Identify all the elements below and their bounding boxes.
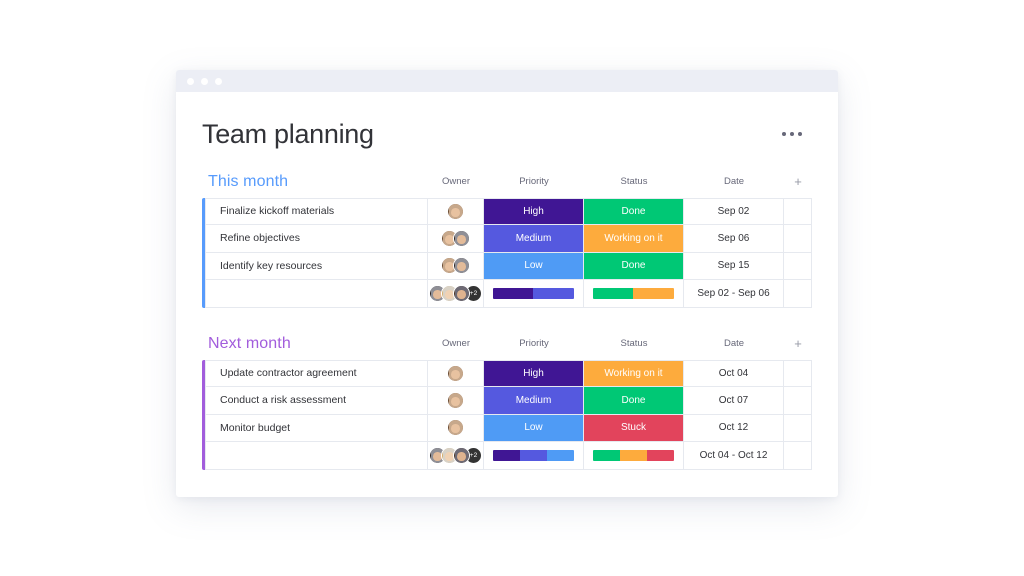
summary-status-cell: [584, 280, 684, 307]
table-row[interactable]: Monitor budgetLowStuckOct 12: [205, 415, 812, 443]
summary-add-cell: [784, 280, 812, 307]
summary-name-cell: [205, 280, 428, 307]
priority-cell[interactable]: High: [484, 361, 584, 387]
task-name[interactable]: Finalize kickoff materials: [205, 199, 428, 225]
column-header-priority[interactable]: Priority: [484, 338, 584, 349]
group-header-row: Next monthOwnerPriorityStatusDate+: [202, 332, 812, 356]
window-dot-close[interactable]: [187, 78, 194, 85]
column-header-status[interactable]: Status: [584, 176, 684, 187]
summary-status-cell: [584, 442, 684, 469]
row-add-cell[interactable]: [784, 225, 812, 252]
owner-cell[interactable]: [428, 225, 484, 252]
avatar[interactable]: [447, 365, 464, 382]
summary-priority-cell: [484, 280, 584, 307]
group-table: Finalize kickoff materialsHighDoneSep 02…: [202, 198, 812, 308]
column-header-date[interactable]: Date: [684, 176, 784, 187]
priority-cell[interactable]: Medium: [484, 387, 584, 414]
row-add-cell[interactable]: [784, 387, 812, 414]
table-row[interactable]: Finalize kickoff materialsHighDoneSep 02: [205, 198, 812, 226]
summary-date-cell: Sep 02 - Sep 06: [684, 280, 784, 307]
table-row[interactable]: Refine objectivesMediumWorking on itSep …: [205, 225, 812, 253]
add-column-icon[interactable]: +: [784, 175, 812, 188]
priority-summary-bar: [493, 288, 574, 299]
priority-cell[interactable]: Medium: [484, 225, 584, 252]
date-cell[interactable]: Oct 07: [684, 387, 784, 414]
task-name[interactable]: Refine objectives: [205, 225, 428, 252]
avatar[interactable]: [447, 392, 464, 409]
group-table: Update contractor agreementHighWorking o…: [202, 360, 812, 470]
avatar[interactable]: [447, 419, 464, 436]
row-add-cell[interactable]: [784, 415, 812, 442]
avatar[interactable]: [447, 203, 464, 220]
owner-cell[interactable]: [428, 199, 484, 225]
owner-cell[interactable]: [428, 253, 484, 280]
column-header-date[interactable]: Date: [684, 338, 784, 349]
window-dot-maximize[interactable]: [215, 78, 222, 85]
avatar[interactable]: [453, 447, 470, 464]
window-titlebar: [176, 70, 838, 92]
owner-cell[interactable]: [428, 361, 484, 387]
group-summary-row: +2Oct 04 - Oct 12: [205, 442, 812, 470]
window-body: Team planning This monthOwnerPrioritySta…: [176, 92, 838, 470]
status-cell[interactable]: Done: [584, 253, 684, 280]
status-cell[interactable]: Working on it: [584, 361, 684, 387]
screenshot-stage: Team planning This monthOwnerPrioritySta…: [0, 0, 1024, 576]
add-column-icon[interactable]: +: [784, 337, 812, 350]
date-cell[interactable]: Sep 02: [684, 199, 784, 225]
status-cell[interactable]: Done: [584, 199, 684, 225]
priority-cell[interactable]: Low: [484, 415, 584, 442]
avatar[interactable]: [453, 230, 470, 247]
summary-date-cell: Oct 04 - Oct 12: [684, 442, 784, 469]
row-add-cell[interactable]: [784, 199, 812, 225]
date-cell[interactable]: Oct 04: [684, 361, 784, 387]
task-name[interactable]: Identify key resources: [205, 253, 428, 280]
priority-summary-bar: [493, 450, 574, 461]
table-row[interactable]: Conduct a risk assessmentMediumDoneOct 0…: [205, 387, 812, 415]
status-summary-bar: [593, 450, 674, 461]
summary-add-cell: [784, 442, 812, 469]
column-header-status[interactable]: Status: [584, 338, 684, 349]
task-name[interactable]: Monitor budget: [205, 415, 428, 442]
avatar[interactable]: [453, 285, 470, 302]
table-row[interactable]: Update contractor agreementHighWorking o…: [205, 360, 812, 388]
summary-name-cell: [205, 442, 428, 469]
status-cell[interactable]: Done: [584, 387, 684, 414]
task-name[interactable]: Update contractor agreement: [205, 361, 428, 387]
summary-owner-cell[interactable]: +2: [428, 280, 484, 307]
window-dot-minimize[interactable]: [201, 78, 208, 85]
group-header-row: This monthOwnerPriorityStatusDate+: [202, 170, 812, 194]
table-row[interactable]: Identify key resourcesLowDoneSep 15: [205, 253, 812, 281]
row-add-cell[interactable]: [784, 361, 812, 387]
owner-cell[interactable]: [428, 415, 484, 442]
page-title: Team planning: [202, 120, 374, 150]
board-groups: This monthOwnerPriorityStatusDate+Finali…: [202, 170, 812, 470]
column-header-priority[interactable]: Priority: [484, 176, 584, 187]
column-header-owner[interactable]: Owner: [428, 176, 484, 187]
summary-owner-cell[interactable]: +2: [428, 442, 484, 469]
date-cell[interactable]: Oct 12: [684, 415, 784, 442]
board-group: Next monthOwnerPriorityStatusDate+Update…: [202, 332, 812, 470]
date-cell[interactable]: Sep 15: [684, 253, 784, 280]
priority-cell[interactable]: Low: [484, 253, 584, 280]
status-cell[interactable]: Stuck: [584, 415, 684, 442]
owner-cell[interactable]: [428, 387, 484, 414]
page-header: Team planning: [202, 120, 812, 150]
row-add-cell[interactable]: [784, 253, 812, 280]
summary-priority-cell: [484, 442, 584, 469]
status-cell[interactable]: Working on it: [584, 225, 684, 252]
column-header-owner[interactable]: Owner: [428, 338, 484, 349]
board-group: This monthOwnerPriorityStatusDate+Finali…: [202, 170, 812, 308]
more-options-icon[interactable]: [782, 132, 802, 136]
group-summary-row: +2Sep 02 - Sep 06: [205, 280, 812, 308]
task-name[interactable]: Conduct a risk assessment: [205, 387, 428, 414]
group-title[interactable]: This month: [208, 173, 288, 191]
avatar[interactable]: [453, 257, 470, 274]
priority-cell[interactable]: High: [484, 199, 584, 225]
group-title[interactable]: Next month: [208, 335, 291, 353]
status-summary-bar: [593, 288, 674, 299]
app-window: Team planning This monthOwnerPrioritySta…: [176, 70, 838, 497]
date-cell[interactable]: Sep 06: [684, 225, 784, 252]
